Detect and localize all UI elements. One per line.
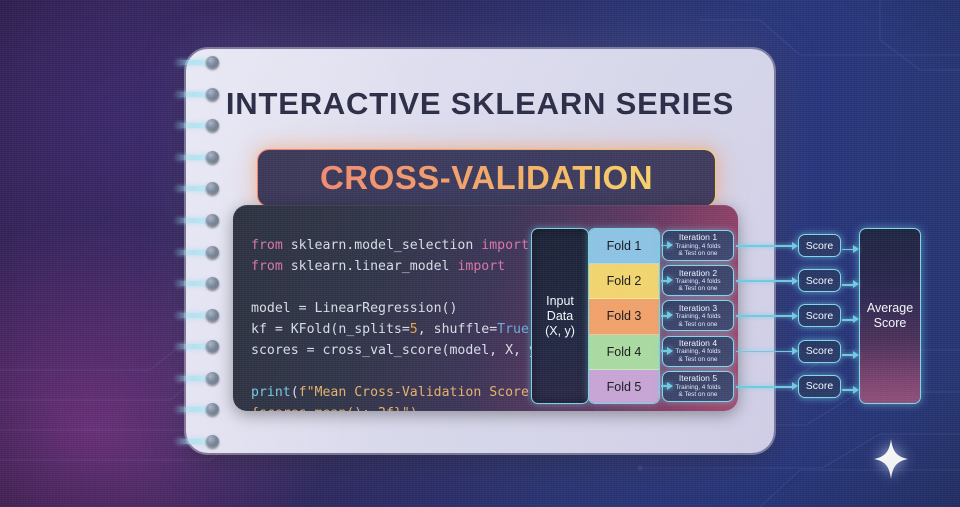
spiral-ring [176,246,228,259]
fold-4: Fold 4 [589,335,659,370]
spiral-ring-bead [206,182,219,195]
topic-badge-label: CROSS-VALIDATION [320,159,653,197]
iteration-title: Iteration 3 [679,304,717,314]
arrow-shaft [736,351,792,353]
slide-canvas: INTERACTIVE SKLEARN SERIES CROSS-VALIDAT… [0,0,960,507]
iteration-title: Iteration 5 [679,374,717,384]
iteration-subtitle-2: & Test on one [679,250,718,257]
arrow-head [667,347,673,355]
arrow-head [792,347,798,355]
average-score-line-1: Average [867,301,913,316]
arrow-head [853,280,859,288]
arrow-head [853,386,859,394]
code-token: 5 [410,322,418,337]
spiral-ring-bead [206,56,219,69]
page-title: INTERACTIVE SKLEARN SERIES [186,86,774,122]
iteration-subtitle-2: & Test on one [679,285,718,292]
arrow-iteration-to-score-4 [736,347,798,356]
spiral-ring-bead [206,372,219,385]
arrow-shaft [736,280,792,282]
arrow-iteration-to-score-5 [736,382,798,391]
iteration-subtitle-2: & Test on one [679,356,718,363]
iteration-subtitle-1: Training, 4 folds [675,384,720,391]
spiral-ring-bead [206,435,219,448]
spiral-ring-bead [206,309,219,322]
arrow-head [667,276,673,284]
code-line: scores = cross_val_score(model, X, y, [251,340,553,361]
code-block: from sklearn.model_selection import crfr… [251,235,553,411]
arrow-iteration-to-score-1 [736,242,798,251]
code-token: from [251,259,291,274]
arrow-head [667,311,673,319]
score-box-5: Score [798,375,841,398]
spiral-ring [176,277,228,290]
arrow-score-to-average-5 [842,386,859,395]
code-token: True [497,322,529,337]
code-token: sklearn.model_selection [291,238,482,253]
code-token: model = LinearRegression() [251,301,457,316]
spiral-ring-bead [206,214,219,227]
input-data-box: Input Data (X, y) [531,228,589,404]
code-line: model = LinearRegression() [251,298,553,319]
arrow-shaft [842,284,853,286]
arrow-fold-to-iteration-2 [661,276,673,285]
arrow-score-to-average-2 [842,280,859,289]
arrow-head [792,312,798,320]
arrow-shaft [842,354,853,356]
spiral-ring [176,403,228,416]
code-token: sklearn.linear_model [291,259,458,274]
spiral-ring-bead [206,403,219,416]
iteration-subtitle-2: & Test on one [679,321,718,328]
spiral-ring [176,435,228,448]
arrow-fold-to-iteration-5 [661,382,673,391]
arrow-iteration-to-score-2 [736,277,798,286]
code-line [251,277,553,298]
iteration-subtitle-1: Training, 4 folds [675,278,720,285]
iteration-title: Iteration 2 [679,269,717,279]
fold-3: Fold 3 [589,299,659,334]
iteration-subtitle-1: Training, 4 folds [675,348,720,355]
fold-1: Fold 1 [589,229,659,264]
code-token: ( [291,385,299,400]
cross-validation-diagram: Input Data (X, y) Fold 1Fold 2Fold 3Fold… [531,228,927,404]
iteration-title: Iteration 1 [679,233,717,243]
score-box-1: Score [798,234,841,257]
average-score-box: Average Score [859,228,921,404]
code-token: import [457,259,505,274]
code-line: kf = KFold(n_splits=5, shuffle=True, r [251,319,553,340]
code-token: , shuffle= [418,322,497,337]
code-line: print(f"Mean Cross-Validation Score: [251,382,553,403]
code-token: f"Mean Cross-Validation Score: [299,385,537,400]
spiral-ring-bead [206,277,219,290]
spiral-ring-bead [206,151,219,164]
arrow-head [853,245,859,253]
arrow-shaft [842,249,853,251]
arrow-shaft [736,245,792,247]
code-token: {scores.mean():.2f}") [251,406,418,411]
spiral-ring [176,372,228,385]
arrow-score-to-average-3 [842,315,859,324]
input-data-line-3: (X, y) [545,324,575,339]
iteration-subtitle-1: Training, 4 folds [675,243,720,250]
code-token: scores = cross_val_score(model, X, y, [251,343,545,358]
code-token: from [251,238,291,253]
spiral-ring [176,309,228,322]
folds-column: Fold 1Fold 2Fold 3Fold 4Fold 5 [588,228,660,404]
code-token: kf = KFold(n_splits= [251,322,410,337]
code-token: import [481,238,537,253]
arrow-head [792,242,798,250]
input-data-line-2: Data [547,309,573,324]
spiral-ring [176,214,228,227]
code-token: print [251,385,291,400]
arrow-head [792,382,798,390]
arrow-iteration-to-score-3 [736,312,798,321]
code-line: {scores.mean():.2f}") [251,403,553,411]
sparkle-icon [874,439,908,479]
spiral-ring [176,340,228,353]
code-line: from sklearn.linear_model import [251,256,553,277]
fold-5: Fold 5 [589,370,659,404]
arrow-shaft [842,319,853,321]
topic-badge: CROSS-VALIDATION [257,149,716,207]
arrow-shaft [736,386,792,388]
arrow-head [853,351,859,359]
arrow-score-to-average-1 [842,245,859,254]
arrow-shaft [736,315,792,317]
code-line [251,361,553,382]
spiral-ring [176,151,228,164]
fold-2: Fold 2 [589,264,659,299]
score-box-2: Score [798,269,841,292]
spiral-ring-bead [206,246,219,259]
arrow-fold-to-iteration-3 [661,311,673,320]
arrow-head [853,315,859,323]
spiral-ring-bead [206,340,219,353]
arrow-score-to-average-4 [842,351,859,360]
iteration-subtitle-2: & Test on one [679,391,718,398]
arrow-shaft [842,389,853,391]
average-score-line-2: Score [874,316,907,331]
score-box-4: Score [798,340,841,363]
code-line: from sklearn.model_selection import cr [251,235,553,256]
arrow-fold-to-iteration-1 [661,241,673,250]
arrow-head [667,241,673,249]
arrow-head [792,277,798,285]
arrow-head [667,382,673,390]
input-data-line-1: Input [546,294,574,309]
spiral-ring [176,182,228,195]
iteration-title: Iteration 4 [679,339,717,349]
score-box-3: Score [798,304,841,327]
iteration-subtitle-1: Training, 4 folds [675,313,720,320]
arrow-fold-to-iteration-4 [661,347,673,356]
spiral-ring [176,56,228,69]
